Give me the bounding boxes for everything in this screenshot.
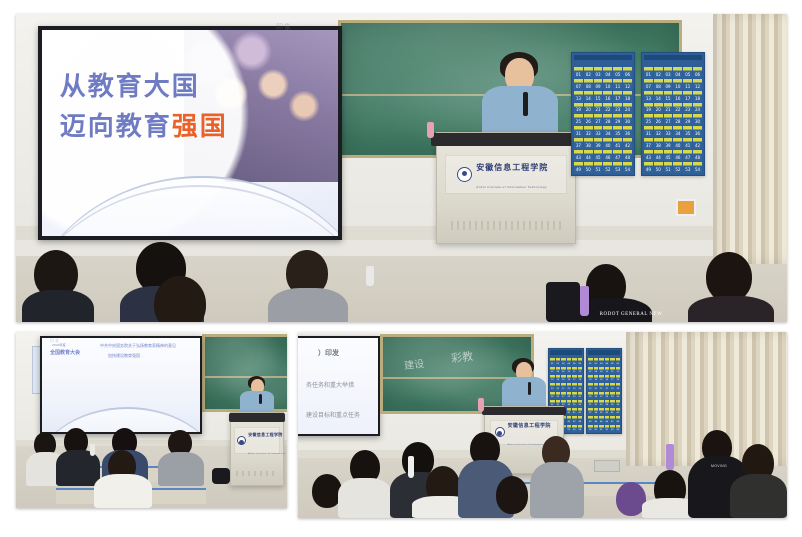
phone-pocket[interactable]: 46 bbox=[673, 150, 682, 161]
phone-pocket[interactable]: 05 bbox=[613, 67, 622, 78]
slide-line-2: 务任务和重大举措 bbox=[306, 380, 354, 389]
phone-pocket[interactable]: 09 bbox=[599, 367, 604, 374]
pink-bottle bbox=[427, 122, 434, 138]
phone-pocket[interactable]: 16 bbox=[567, 375, 572, 382]
lectern: 安徽信息工程学院 Anhui Institute of Information … bbox=[436, 132, 576, 244]
phone-pocket[interactable]: 26 bbox=[556, 392, 561, 399]
phone-pocket[interactable]: 04 bbox=[673, 67, 682, 78]
phone-pocket[interactable]: 23 bbox=[613, 103, 622, 114]
audience-head bbox=[706, 252, 752, 302]
phone-pocket[interactable]: 32 bbox=[584, 126, 593, 137]
phone-pocket[interactable]: 52 bbox=[567, 425, 572, 432]
phone-pocket[interactable]: 15 bbox=[664, 91, 673, 102]
phone-pocket[interactable]: 13 bbox=[574, 91, 583, 102]
slide-line-3: 中共中央国务院关于弘扬教育家精神的意见 bbox=[100, 343, 176, 349]
slide-background: ）印发 务任务和重大举措 建设目标和重点任务 bbox=[298, 338, 378, 434]
handbag bbox=[212, 468, 230, 484]
phone-pocket[interactable]: 46 bbox=[603, 150, 612, 161]
phone-pocket[interactable]: 26 bbox=[594, 392, 599, 399]
slide-headline-1: 从教育大国 bbox=[60, 66, 200, 103]
projection-screen: 从教育大国 迈向教育强国 印象 bbox=[38, 26, 342, 240]
phone-pocket[interactable]: 32 bbox=[654, 126, 663, 137]
projection-screen: ）印发 务任务和重大举措 建设目标和重点任务 bbox=[298, 336, 380, 436]
phone-pocket[interactable]: 37 bbox=[588, 408, 593, 415]
phone-pocket[interactable]: 14 bbox=[654, 91, 663, 102]
phone-pocket[interactable]: 25 bbox=[574, 114, 583, 125]
phone-pocket[interactable]: 33 bbox=[594, 126, 603, 137]
phone-pocket[interactable]: 39 bbox=[599, 408, 604, 415]
slide-background: 2024年度 全国教育大会 中共中央国务院关于弘扬教育家精神的意见 加快建设教育… bbox=[42, 338, 200, 432]
phone-pocket[interactable]: 10 bbox=[673, 79, 682, 90]
phone-pocket[interactable]: 02 bbox=[556, 358, 561, 365]
phone-pocket[interactable]: 50 bbox=[594, 425, 599, 432]
phone-pocket[interactable]: 12 bbox=[578, 367, 583, 374]
phone-pocket[interactable]: 01 bbox=[644, 67, 653, 78]
slide-line-1: ）印发 bbox=[318, 348, 339, 358]
phone-pocket[interactable]: 11 bbox=[610, 367, 615, 374]
phone-pocket[interactable]: 16 bbox=[673, 91, 682, 102]
phone-pocket[interactable]: 46 bbox=[605, 416, 610, 423]
phone-pocket[interactable]: 47 bbox=[683, 150, 692, 161]
phone-pocket[interactable]: 07 bbox=[644, 79, 653, 90]
phone-pocket[interactable]: 03 bbox=[561, 358, 566, 365]
water-bottle bbox=[366, 266, 374, 286]
phone-pocket[interactable]: 37 bbox=[644, 138, 653, 149]
phone-pocket[interactable]: 21 bbox=[664, 103, 673, 114]
phone-pocket[interactable]: 02 bbox=[584, 67, 593, 78]
tshirt-text: RODOT GENERAL NEW bbox=[594, 312, 668, 318]
phone-pocket[interactable]: 40 bbox=[567, 408, 572, 415]
phone-pocket[interactable]: 03 bbox=[664, 67, 673, 78]
phone-pocket[interactable]: 29 bbox=[683, 114, 692, 125]
phone-pocket[interactable]: 04 bbox=[605, 358, 610, 365]
phone-pocket[interactable]: 09 bbox=[664, 79, 673, 90]
university-emblem-icon bbox=[457, 167, 472, 182]
pocket-board-header bbox=[644, 55, 702, 60]
collage-watermark: 印象 bbox=[276, 22, 292, 32]
phone-pocket[interactable]: 15 bbox=[594, 91, 603, 102]
phone-pocket[interactable]: 23 bbox=[572, 383, 577, 390]
slide-line-2: 全国教育大会 bbox=[50, 349, 80, 356]
phone-pocket[interactable]: 41 bbox=[683, 138, 692, 149]
phone-pocket[interactable]: 38 bbox=[584, 138, 593, 149]
phone-pocket[interactable]: 06 bbox=[578, 358, 583, 365]
phone-pocket[interactable]: 06 bbox=[693, 67, 702, 78]
phone-pocket[interactable]: 39 bbox=[594, 138, 603, 149]
lectern-name-cn: 安徽信息工程学院 bbox=[248, 432, 282, 437]
phone-pocket[interactable]: 10 bbox=[567, 367, 572, 374]
phone-pocket[interactable]: 30 bbox=[693, 114, 702, 125]
phone-pocket[interactable]: 54 bbox=[616, 425, 621, 432]
phone-pocket[interactable]: 40 bbox=[673, 138, 682, 149]
phone-pocket[interactable]: 01 bbox=[588, 358, 593, 365]
phone-pocket[interactable]: 24 bbox=[578, 383, 583, 390]
phone-pocket[interactable]: 05 bbox=[610, 358, 615, 365]
phone-pocket[interactable]: 20 bbox=[594, 383, 599, 390]
phone-pocket[interactable]: 42 bbox=[623, 138, 632, 149]
phone-pocket[interactable]: 40 bbox=[603, 138, 612, 149]
phone-pocket[interactable]: 11 bbox=[683, 79, 692, 90]
phone-pocket[interactable]: 32 bbox=[594, 400, 599, 407]
chalk-writing-a: 建设 bbox=[403, 355, 425, 372]
phone-pocket[interactable]: 18 bbox=[623, 91, 632, 102]
lectern: 安徽信息工程学院 Anhui Institute of Information … bbox=[230, 412, 284, 486]
microphone bbox=[523, 92, 528, 116]
phone-pocket[interactable]: 50 bbox=[584, 162, 593, 173]
phone-pocket[interactable]: 28 bbox=[605, 392, 610, 399]
phone-pocket[interactable]: 22 bbox=[567, 383, 572, 390]
phone-pocket[interactable]: 15 bbox=[599, 375, 604, 382]
phone-pocket[interactable]: 53 bbox=[613, 162, 622, 173]
slide-headline-2a: 迈向教育 bbox=[60, 112, 172, 142]
phone-pocket[interactable]: 08 bbox=[556, 367, 561, 374]
phone-pocket-board-right: 0102030405060708091011121314151617181920… bbox=[641, 52, 705, 176]
phone-pocket[interactable]: 44 bbox=[594, 416, 599, 423]
phone-pocket[interactable]: 17 bbox=[610, 375, 615, 382]
phone-pocket[interactable]: 48 bbox=[693, 150, 702, 161]
phone-pocket[interactable]: 39 bbox=[664, 138, 673, 149]
phone-pocket[interactable]: 34 bbox=[673, 126, 682, 137]
phone-pocket[interactable]: 42 bbox=[616, 408, 621, 415]
lectern-nameplate: 安徽信息工程学院 Anhui Institute of Information … bbox=[234, 427, 280, 453]
pocket-board-header bbox=[574, 55, 632, 60]
phone-pocket[interactable]: 48 bbox=[623, 150, 632, 161]
audience-body bbox=[94, 474, 152, 508]
lectern-vents bbox=[451, 221, 561, 230]
phone-pocket[interactable]: 45 bbox=[599, 416, 604, 423]
audience-head bbox=[496, 476, 528, 514]
phone-pocket[interactable]: 18 bbox=[616, 375, 621, 382]
phone-pocket[interactable]: 30 bbox=[623, 114, 632, 125]
phone-pocket[interactable]: 13 bbox=[550, 375, 555, 382]
phone-pocket[interactable]: 19 bbox=[574, 103, 583, 114]
microphone bbox=[259, 394, 262, 404]
lectern-vents bbox=[236, 471, 278, 477]
floor-equipment bbox=[594, 460, 620, 472]
photo-collage: 从教育大国 迈向教育强国 印象 安徽信息工程学院 bbox=[0, 0, 802, 537]
phone-pocket[interactable]: 53 bbox=[572, 425, 577, 432]
phone-pocket[interactable]: 43 bbox=[588, 416, 593, 423]
phone-pocket[interactable]: 44 bbox=[654, 150, 663, 161]
phone-pocket[interactable]: 43 bbox=[574, 150, 583, 161]
phone-pocket[interactable]: 10 bbox=[603, 79, 612, 90]
phone-pocket[interactable]: 54 bbox=[693, 162, 702, 173]
audience-body bbox=[688, 296, 774, 322]
phone-pocket[interactable]: 35 bbox=[613, 126, 622, 137]
phone-pocket[interactable]: 52 bbox=[603, 162, 612, 173]
phone-pocket[interactable]: 24 bbox=[616, 383, 621, 390]
phone-pocket[interactable]: 42 bbox=[578, 408, 583, 415]
panel-bottom-right: ）印发 务任务和重大举措 建设目标和重点任务 建设 彩教 01020304050… bbox=[298, 332, 787, 518]
phone-pocket[interactable]: 45 bbox=[594, 150, 603, 161]
phone-pocket[interactable]: 03 bbox=[599, 358, 604, 365]
phone-pocket[interactable]: 23 bbox=[683, 103, 692, 114]
phone-pocket[interactable]: 36 bbox=[693, 126, 702, 137]
phone-pocket[interactable]: 29 bbox=[613, 114, 622, 125]
phone-pocket[interactable]: 36 bbox=[623, 126, 632, 137]
slide-background: 从教育大国 迈向教育强国 印象 bbox=[42, 30, 338, 236]
phone-pocket[interactable]: 34 bbox=[567, 400, 572, 407]
phone-pocket[interactable]: 24 bbox=[623, 103, 632, 114]
phone-pocket[interactable]: 07 bbox=[574, 79, 583, 90]
phone-pocket[interactable]: 26 bbox=[584, 114, 593, 125]
phone-pocket[interactable]: 48 bbox=[616, 416, 621, 423]
phone-pocket[interactable]: 22 bbox=[673, 103, 682, 114]
phone-pocket[interactable]: 34 bbox=[605, 400, 610, 407]
university-emblem-icon bbox=[237, 436, 246, 445]
phone-pocket[interactable]: 47 bbox=[572, 416, 577, 423]
phone-pocket[interactable]: 49 bbox=[574, 162, 583, 173]
phone-pocket[interactable]: 49 bbox=[644, 162, 653, 173]
phone-pocket[interactable]: 20 bbox=[584, 103, 593, 114]
phone-pocket[interactable]: 34 bbox=[603, 126, 612, 137]
phone-pocket[interactable]: 47 bbox=[610, 416, 615, 423]
phone-pocket[interactable]: 53 bbox=[610, 425, 615, 432]
phone-pocket[interactable]: 25 bbox=[550, 392, 555, 399]
phone-pocket[interactable]: 46 bbox=[567, 416, 572, 423]
phone-pocket[interactable]: 01 bbox=[550, 358, 555, 365]
phone-pocket[interactable]: 15 bbox=[561, 375, 566, 382]
phone-pocket[interactable]: 21 bbox=[599, 383, 604, 390]
phone-pocket[interactable]: 17 bbox=[572, 375, 577, 382]
phone-pocket[interactable]: 41 bbox=[613, 138, 622, 149]
phone-pocket[interactable]: 02 bbox=[654, 67, 663, 78]
slide-line-3: 建设目标和重点任务 bbox=[306, 410, 360, 419]
phone-pocket[interactable]: 22 bbox=[605, 383, 610, 390]
water-bottle bbox=[408, 456, 414, 478]
phone-pocket[interactable]: 29 bbox=[610, 392, 615, 399]
phone-pocket[interactable]: 18 bbox=[578, 375, 583, 382]
phone-pocket[interactable]: 18 bbox=[693, 91, 702, 102]
phone-pocket[interactable]: 51 bbox=[664, 162, 673, 173]
slide-headline-2: 迈向教育强国 bbox=[60, 106, 228, 143]
phone-pocket[interactable]: 24 bbox=[693, 103, 702, 114]
phone-pocket[interactable]: 47 bbox=[613, 150, 622, 161]
phone-pocket[interactable]: 20 bbox=[654, 103, 663, 114]
university-emblem-icon bbox=[495, 427, 505, 437]
phone-pocket[interactable]: 28 bbox=[603, 114, 612, 125]
audience-body bbox=[730, 474, 787, 518]
pocket-board-header bbox=[550, 350, 582, 355]
phone-pocket[interactable]: 08 bbox=[654, 79, 663, 90]
phone-pocket[interactable]: 31 bbox=[574, 126, 583, 137]
phone-pocket[interactable]: 17 bbox=[613, 91, 622, 102]
phone-pocket[interactable]: 04 bbox=[567, 358, 572, 365]
water-bottle bbox=[90, 444, 95, 456]
phone-pocket[interactable]: 38 bbox=[594, 408, 599, 415]
phone-pocket[interactable]: 45 bbox=[664, 150, 673, 161]
phone-pocket[interactable]: 07 bbox=[550, 367, 555, 374]
lectern-name-en: Anhui Institute of Information Technolog… bbox=[248, 453, 287, 455]
phone-pocket[interactable]: 01 bbox=[574, 67, 583, 78]
phone-pocket[interactable]: 41 bbox=[572, 408, 577, 415]
phone-pocket[interactable]: 27 bbox=[561, 392, 566, 399]
phone-pocket[interactable]: 04 bbox=[603, 67, 612, 78]
phone-pocket[interactable]: 35 bbox=[683, 126, 692, 137]
phone-pocket[interactable]: 09 bbox=[594, 79, 603, 90]
phone-pocket[interactable]: 08 bbox=[584, 79, 593, 90]
phone-pocket[interactable]: 09 bbox=[561, 367, 566, 374]
phone-pocket[interactable]: 12 bbox=[693, 79, 702, 90]
phone-pocket[interactable]: 41 bbox=[610, 408, 615, 415]
phone-pocket[interactable]: 35 bbox=[572, 400, 577, 407]
phone-pocket[interactable]: 17 bbox=[683, 91, 692, 102]
phone-pocket[interactable]: 49 bbox=[588, 425, 593, 432]
backpack bbox=[546, 282, 580, 322]
phone-pocket[interactable]: 53 bbox=[683, 162, 692, 173]
phone-pocket[interactable]: 22 bbox=[603, 103, 612, 114]
slide-line-4: 加快建设教育强国 bbox=[108, 353, 140, 359]
phone-pocket[interactable]: 28 bbox=[567, 392, 572, 399]
phone-pocket[interactable]: 03 bbox=[594, 67, 603, 78]
phone-pocket[interactable]: 10 bbox=[605, 367, 610, 374]
phone-pocket[interactable]: 31 bbox=[588, 400, 593, 407]
audience-body bbox=[158, 452, 204, 486]
phone-pocket[interactable]: 36 bbox=[616, 400, 621, 407]
phone-pocket[interactable]: 44 bbox=[584, 150, 593, 161]
pocket-board-header bbox=[588, 350, 620, 355]
phone-pocket[interactable]: 36 bbox=[578, 400, 583, 407]
pink-bottle bbox=[478, 398, 484, 412]
phone-pocket[interactable]: 25 bbox=[588, 392, 593, 399]
window-curtain bbox=[713, 14, 787, 264]
phone-pocket[interactable]: 43 bbox=[644, 150, 653, 161]
phone-pocket[interactable]: 12 bbox=[616, 367, 621, 374]
phone-pocket[interactable]: 13 bbox=[588, 375, 593, 382]
phone-pocket[interactable]: 23 bbox=[610, 383, 615, 390]
lectern-desktop bbox=[431, 133, 580, 146]
phone-pocket[interactable]: 16 bbox=[603, 91, 612, 102]
audience-body bbox=[530, 462, 584, 518]
phone-pocket[interactable]: 12 bbox=[623, 79, 632, 90]
phone-pocket[interactable]: 19 bbox=[550, 383, 555, 390]
audience-body bbox=[338, 478, 392, 518]
phone-pocket[interactable]: 52 bbox=[605, 425, 610, 432]
phone-pocket-board-right: 0102030405060708091011121314151617181920… bbox=[586, 348, 622, 434]
phone-pocket[interactable]: 33 bbox=[664, 126, 673, 137]
phone-pocket[interactable]: 14 bbox=[556, 375, 561, 382]
lectern-name-cn: 安徽信息工程学院 bbox=[508, 423, 551, 429]
phone-pocket[interactable]: 51 bbox=[599, 425, 604, 432]
phone-pocket[interactable]: 08 bbox=[594, 367, 599, 374]
phone-pocket[interactable]: 14 bbox=[594, 375, 599, 382]
phone-pocket[interactable]: 19 bbox=[644, 103, 653, 114]
phone-pocket[interactable]: 05 bbox=[572, 358, 577, 365]
phone-pocket[interactable]: 20 bbox=[556, 383, 561, 390]
phone-pocket[interactable]: 27 bbox=[594, 114, 603, 125]
phone-pocket[interactable]: 27 bbox=[664, 114, 673, 125]
phone-pocket[interactable]: 27 bbox=[599, 392, 604, 399]
phone-pocket-board-left: 0102030405060708091011121314151617181920… bbox=[571, 52, 635, 176]
phone-pocket[interactable]: 05 bbox=[683, 67, 692, 78]
phone-pocket[interactable]: 30 bbox=[578, 392, 583, 399]
tshirt-text: MOVING bbox=[694, 464, 744, 468]
phone-pocket[interactable]: 06 bbox=[616, 358, 621, 365]
phone-pocket[interactable]: 06 bbox=[623, 67, 632, 78]
panel-bottom-left: 2024年度 全国教育大会 中共中央国务院关于弘扬教育家精神的意见 加快建设教育… bbox=[16, 332, 287, 508]
phone-pocket[interactable]: 51 bbox=[594, 162, 603, 173]
phone-pocket[interactable]: 38 bbox=[654, 138, 663, 149]
phone-pocket[interactable]: 40 bbox=[605, 408, 610, 415]
phone-pocket[interactable]: 33 bbox=[599, 400, 604, 407]
microphone bbox=[528, 382, 531, 395]
phone-pocket[interactable]: 07 bbox=[588, 367, 593, 374]
lectern-desktop bbox=[229, 413, 285, 422]
phone-pocket[interactable]: 31 bbox=[644, 126, 653, 137]
phone-pocket[interactable]: 14 bbox=[584, 91, 593, 102]
phone-pocket[interactable]: 48 bbox=[578, 416, 583, 423]
phone-pocket[interactable]: 50 bbox=[654, 162, 663, 173]
audience-body bbox=[22, 290, 94, 322]
phone-pocket[interactable]: 16 bbox=[605, 375, 610, 382]
phone-pocket[interactable]: 21 bbox=[594, 103, 603, 114]
phone-pocket[interactable]: 13 bbox=[644, 91, 653, 102]
phone-pocket[interactable]: 19 bbox=[588, 383, 593, 390]
phone-pocket[interactable]: 35 bbox=[610, 400, 615, 407]
phone-pocket[interactable]: 11 bbox=[572, 367, 577, 374]
projection-screen: 2024年度 全国教育大会 中共中央国务院关于弘扬教育家精神的意见 加快建设教育… bbox=[40, 336, 202, 434]
phone-pocket[interactable]: 54 bbox=[578, 425, 583, 432]
phone-pocket[interactable]: 28 bbox=[673, 114, 682, 125]
lectern-name-en: Anhui Institute of Information Technolog… bbox=[476, 185, 547, 189]
purple-bottle bbox=[580, 286, 589, 316]
phone-pocket[interactable]: 26 bbox=[654, 114, 663, 125]
phone-pocket[interactable]: 37 bbox=[574, 138, 583, 149]
phone-pocket[interactable]: 52 bbox=[673, 162, 682, 173]
phone-pocket[interactable]: 54 bbox=[623, 162, 632, 173]
phone-pocket[interactable]: 21 bbox=[561, 383, 566, 390]
audience-body bbox=[268, 288, 348, 322]
slide-watermark: 印象 bbox=[318, 33, 334, 43]
phone-pocket[interactable]: 30 bbox=[616, 392, 621, 399]
panel-top: 从教育大国 迈向教育强国 印象 安徽信息工程学院 bbox=[16, 14, 787, 322]
lectern-name-cn: 安徽信息工程学院 bbox=[476, 163, 548, 172]
purple-bottle bbox=[666, 444, 674, 470]
chalk-writing-b: 彩教 bbox=[450, 348, 474, 367]
phone-pocket[interactable]: 29 bbox=[572, 392, 577, 399]
slide-headline-2b: 强国 bbox=[172, 112, 228, 142]
phone-pocket[interactable]: 11 bbox=[613, 79, 622, 90]
phone-pocket[interactable]: 02 bbox=[594, 358, 599, 365]
phone-pocket[interactable]: 42 bbox=[693, 138, 702, 149]
speaker-torso bbox=[502, 377, 546, 409]
collage-watermark: 印发 bbox=[50, 338, 60, 344]
wall-socket-box bbox=[676, 199, 696, 216]
lectern-nameplate: 安徽信息工程学院 Anhui Institute of Information … bbox=[445, 155, 566, 194]
phone-pocket[interactable]: 25 bbox=[644, 114, 653, 125]
